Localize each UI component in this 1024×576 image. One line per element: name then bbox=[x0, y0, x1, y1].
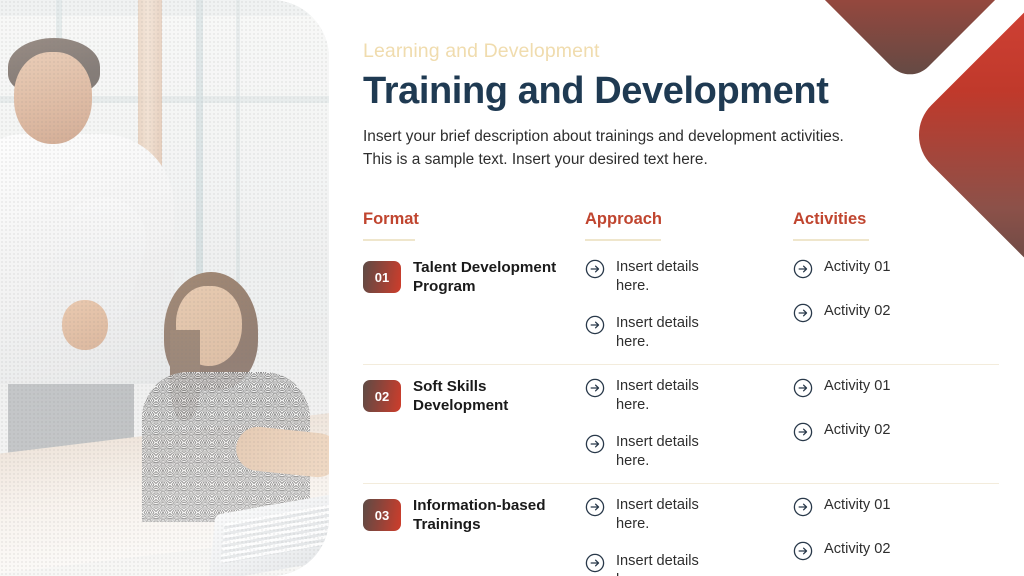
list-item[interactable]: Insert details here. bbox=[585, 314, 793, 352]
format-cell: 02 Soft Skills Development bbox=[363, 377, 585, 415]
arrow-circle-right-icon bbox=[793, 497, 813, 522]
column-header-label: Activities bbox=[793, 210, 866, 228]
format-label: Talent Development Program bbox=[413, 258, 563, 296]
header-underline bbox=[363, 239, 415, 241]
table-row[interactable]: 01 Talent Development Program Insert det… bbox=[363, 246, 1003, 364]
list-item[interactable]: Activity 01 bbox=[793, 377, 1003, 403]
arrow-circle-right-icon bbox=[585, 378, 605, 403]
list-item[interactable]: Activity 01 bbox=[793, 496, 1003, 522]
format-cell: 03 Information-based Trainings bbox=[363, 496, 585, 534]
photo-halftone-texture bbox=[0, 0, 329, 576]
approach-cell: Insert details here. Insert details here… bbox=[585, 377, 793, 471]
table-header-row: Format Approach Activities bbox=[363, 210, 1003, 246]
row-number-badge: 03 bbox=[363, 499, 401, 531]
slide-root: Learning and Development Training and De… bbox=[0, 0, 1024, 576]
column-header-activities: Activities bbox=[793, 210, 1003, 246]
list-item[interactable]: Insert details here. bbox=[585, 377, 793, 415]
arrow-circle-right-icon bbox=[793, 541, 813, 566]
approach-cell: Insert details here. Insert details here… bbox=[585, 258, 793, 352]
list-item-label: Insert details here. bbox=[616, 314, 724, 352]
list-item[interactable]: Activity 02 bbox=[793, 302, 1003, 328]
header-underline bbox=[793, 239, 869, 241]
arrow-circle-right-icon bbox=[793, 422, 813, 447]
list-item-label: Activity 01 bbox=[824, 377, 891, 396]
row-number-badge: 01 bbox=[363, 261, 401, 293]
format-label: Soft Skills Development bbox=[413, 377, 563, 415]
table-row[interactable]: 02 Soft Skills Development Insert detail… bbox=[363, 365, 1003, 483]
list-item[interactable]: Insert details here. bbox=[585, 496, 793, 534]
column-header-format: Format bbox=[363, 210, 585, 246]
table-row[interactable]: 03 Information-based Trainings Insert de… bbox=[363, 484, 1003, 576]
arrow-circle-right-icon bbox=[793, 303, 813, 328]
activities-cell: Activity 01 Activity 02 bbox=[793, 377, 1003, 447]
approach-cell: Insert details here. Insert details here… bbox=[585, 496, 793, 576]
header-underline bbox=[585, 239, 661, 241]
row-number-badge: 02 bbox=[363, 380, 401, 412]
list-item[interactable]: Insert details here. bbox=[585, 258, 793, 296]
list-item-label: Insert details here. bbox=[616, 433, 724, 471]
description-text: Insert your brief description about trai… bbox=[363, 125, 847, 171]
list-item-label: Activity 02 bbox=[824, 421, 891, 440]
format-cell: 01 Talent Development Program bbox=[363, 258, 585, 296]
format-label: Information-based Trainings bbox=[413, 496, 563, 534]
arrow-circle-right-icon bbox=[793, 378, 813, 403]
list-item[interactable]: Activity 01 bbox=[793, 258, 1003, 284]
list-item[interactable]: Activity 02 bbox=[793, 540, 1003, 566]
arrow-circle-right-icon bbox=[585, 259, 605, 284]
arrow-circle-right-icon bbox=[793, 259, 813, 284]
hero-photo bbox=[0, 0, 329, 576]
eyebrow-label: Learning and Development bbox=[363, 40, 600, 63]
list-item-label: Activity 01 bbox=[824, 496, 891, 515]
activities-cell: Activity 01 Activity 02 bbox=[793, 258, 1003, 328]
list-item-label: Insert details here. bbox=[616, 552, 724, 576]
arrow-circle-right-icon bbox=[585, 434, 605, 459]
arrow-circle-right-icon bbox=[585, 553, 605, 576]
list-item-label: Insert details here. bbox=[616, 258, 724, 296]
comparison-table: Format Approach Activities 01 Talent Dev… bbox=[363, 210, 1003, 576]
arrow-circle-right-icon bbox=[585, 315, 605, 340]
column-header-label: Format bbox=[363, 210, 419, 228]
list-item[interactable]: Activity 02 bbox=[793, 421, 1003, 447]
list-item[interactable]: Insert details here. bbox=[585, 552, 793, 576]
list-item[interactable]: Insert details here. bbox=[585, 433, 793, 471]
list-item-label: Activity 01 bbox=[824, 258, 891, 277]
column-header-label: Approach bbox=[585, 210, 662, 228]
page-title: Training and Development bbox=[363, 70, 828, 113]
content-area: Learning and Development Training and De… bbox=[363, 0, 1003, 576]
list-item-label: Insert details here. bbox=[616, 496, 724, 534]
column-header-approach: Approach bbox=[585, 210, 793, 246]
activities-cell: Activity 01 Activity 02 bbox=[793, 496, 1003, 566]
list-item-label: Activity 02 bbox=[824, 302, 891, 321]
list-item-label: Activity 02 bbox=[824, 540, 891, 559]
list-item-label: Insert details here. bbox=[616, 377, 724, 415]
arrow-circle-right-icon bbox=[585, 497, 605, 522]
